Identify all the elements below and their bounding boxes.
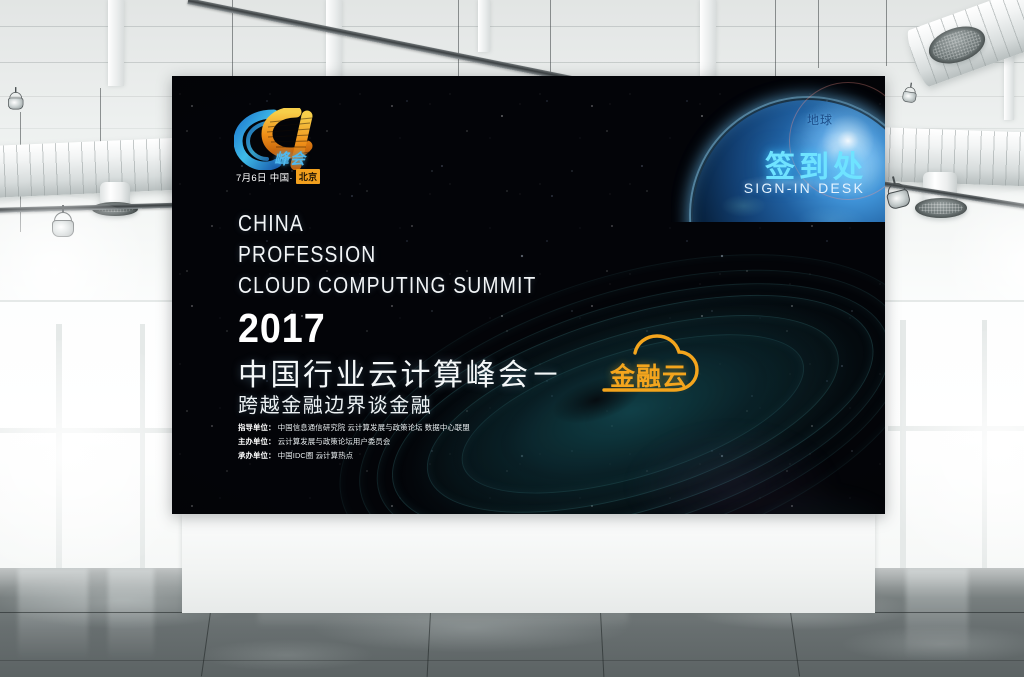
logo-summit-chinese: 峰会 (274, 148, 306, 169)
signin-desk-panel: 地球 签到处 SIGN-IN DESK (671, 76, 885, 222)
logo-country: 中国· (270, 170, 293, 184)
organizer-names: 云计算发展与政策论坛用户委员会 (278, 437, 391, 446)
organizer-names: 中国IDC圈 云计算热点 (278, 451, 353, 460)
organizer-names: 中国信息通信研究院 云计算发展与政策论坛 数据中心联盟 (278, 423, 470, 432)
signin-desk-english: SIGN-IN DESK (744, 180, 865, 196)
room-scene: 地球 签到处 SIGN-IN DESK (0, 0, 1024, 677)
organizer-row: 主办单位： 云计算发展与政策论坛用户委员会 (238, 435, 470, 449)
event-backdrop-banner: 地球 签到处 SIGN-IN DESK (172, 76, 885, 514)
organizer-role: 承办单位： (238, 451, 276, 460)
finance-cloud-text: 金融云 (610, 357, 688, 393)
summit-logo: 峰会 7月6日 中国· 北京 (234, 108, 354, 188)
english-title: CHINA PROFESSION CLOUD COMPUTING SUMMIT (238, 208, 537, 301)
logo-date-bar: 7月6日 中国· 北京 (236, 170, 320, 183)
banner-base-panel (182, 514, 875, 613)
organizer-role: 指导单位： (238, 423, 276, 432)
organizer-list: 指导单位： 中国信息通信研究院 云计算发展与政策论坛 数据中心联盟 主办单位： … (238, 421, 470, 464)
logo-city: 北京 (296, 169, 321, 184)
finance-cloud-badge: 金融云 (590, 334, 710, 396)
english-title-line-1: CHINA (238, 208, 537, 239)
english-title-line-3: CLOUD COMPUTING SUMMIT (238, 270, 537, 301)
chinese-subtitle: 跨越金融边界谈金融 (238, 389, 432, 418)
organizer-role: 主办单位： (238, 437, 276, 446)
nebula-dust (612, 406, 885, 514)
ceiling-duct-left (0, 138, 185, 199)
organizer-row: 指导单位： 中国信息通信研究院 云计算发展与政策论坛 数据中心联盟 (238, 421, 470, 435)
event-year: 2017 (238, 305, 326, 352)
earth-label: 地球 (807, 111, 833, 128)
organizer-row: 承办单位： 中国IDC圈 云计算热点 (238, 449, 470, 463)
english-title-line-2: PROFESSION (238, 239, 537, 270)
logo-date: 7月6日 (236, 170, 267, 184)
chinese-title: 中国行业云计算峰会－ (238, 350, 563, 394)
